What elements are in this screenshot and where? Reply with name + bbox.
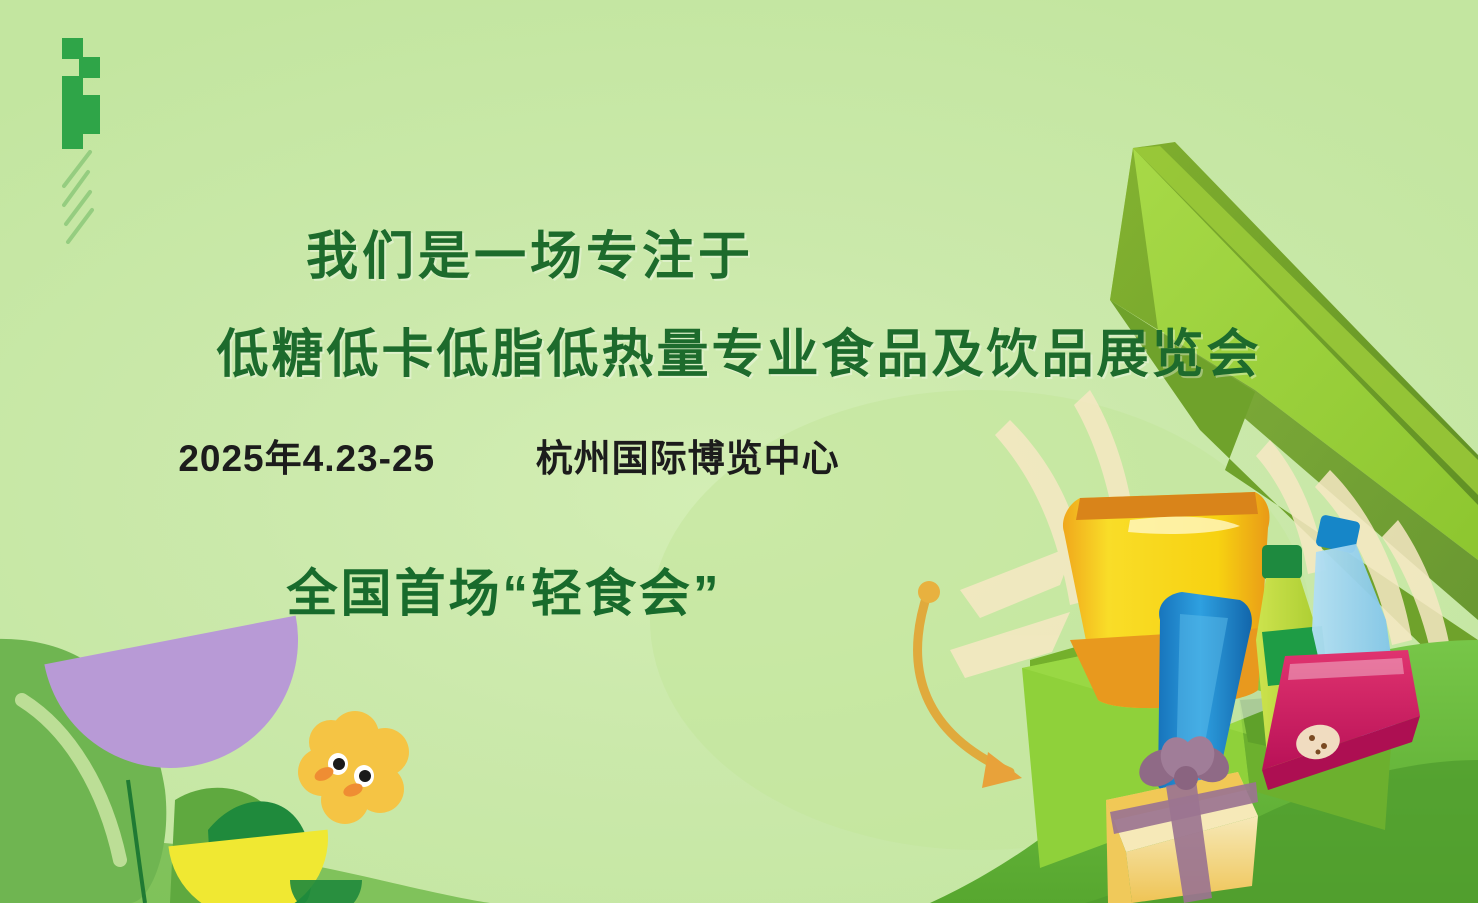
poster-artwork xyxy=(0,0,1478,903)
checker-decoration xyxy=(62,38,100,149)
promotional-poster: 我们是一场专注于 低糖低卡低脂低热量专业食品及饮品展览会 2025年4.23-2… xyxy=(0,0,1478,903)
hatch-decoration xyxy=(64,152,92,242)
flower-mascot xyxy=(298,711,409,824)
